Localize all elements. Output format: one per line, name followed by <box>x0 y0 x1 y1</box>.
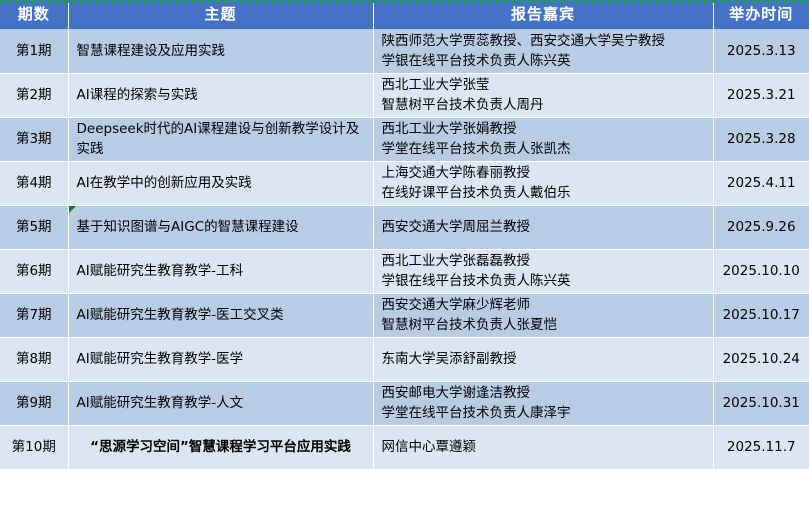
cell-line: AI课程的探索与实践 <box>77 85 365 105</box>
table-body: 第1期智慧课程建设及应用实践陕西师范大学贾蕊教授、西安交通大学吴宁教授学银在线平… <box>0 29 809 469</box>
cell-line: 在线好课平台技术负责人戴伯乐 <box>382 183 705 203</box>
schedule-table: 期数 主题 报告嘉宾 举办时间 第1期智慧课程建设及应用实践陕西师范大学贾蕊教授… <box>0 0 809 470</box>
spreadsheet-canvas: 期数 主题 报告嘉宾 举办时间 第1期智慧课程建设及应用实践陕西师范大学贾蕊教授… <box>0 0 809 509</box>
cell-line: 2025.11.7 <box>722 437 802 457</box>
cell-line: 学银在线平台技术负责人陈兴英 <box>382 271 705 291</box>
cell-guest[interactable]: 东南大学吴添舒副教授 <box>373 337 713 381</box>
cell-date[interactable]: 2025.3.13 <box>713 29 809 73</box>
table-row[interactable]: 第6期AI赋能研究生教育教学-工科西北工业大学张磊磊教授学银在线平台技术负责人陈… <box>0 249 809 293</box>
cell-line: 第5期 <box>4 217 64 237</box>
cell-line: 2025.10.17 <box>722 305 802 325</box>
cell-period[interactable]: 第5期 <box>0 205 68 249</box>
table-row[interactable]: 第1期智慧课程建设及应用实践陕西师范大学贾蕊教授、西安交通大学吴宁教授学银在线平… <box>0 29 809 73</box>
cell-topic[interactable]: AI赋能研究生教育教学-医学 <box>68 337 373 381</box>
cell-line: 2025.9.26 <box>722 217 802 237</box>
column-header-date[interactable]: 举办时间 <box>713 0 809 29</box>
selection-marching-ants-border <box>0 0 809 3</box>
header-row: 期数 主题 报告嘉宾 举办时间 <box>0 0 809 29</box>
cell-topic[interactable]: AI赋能研究生教育教学-人文 <box>68 381 373 425</box>
cell-line: 智慧树平台技术负责人张夏恺 <box>382 315 705 335</box>
cell-line: 第10期 <box>4 437 64 457</box>
cell-line: AI赋能研究生教育教学-人文 <box>77 393 365 413</box>
cell-line: 网信中心覃遵颖 <box>382 437 705 457</box>
cell-line: 学堂在线平台技术负责人康泽宇 <box>382 403 705 423</box>
cell-line: 2025.3.13 <box>722 41 802 61</box>
cell-line: 西北工业大学张莹 <box>382 75 705 95</box>
cell-line: 东南大学吴添舒副教授 <box>382 349 705 369</box>
cell-line: AI赋能研究生教育教学-医学 <box>77 349 365 369</box>
cell-line: 2025.3.28 <box>722 129 802 149</box>
cell-guest[interactable]: 网信中心覃遵颖 <box>373 425 713 469</box>
cell-period[interactable]: 第8期 <box>0 337 68 381</box>
cell-guest[interactable]: 西北工业大学张莹智慧树平台技术负责人周丹 <box>373 73 713 117</box>
cell-topic[interactable]: AI赋能研究生教育教学-医工交叉类 <box>68 293 373 337</box>
column-header-period[interactable]: 期数 <box>0 0 68 29</box>
table-row[interactable]: 第10期“思源学习空间”智慧课程学习平台应用实践网信中心覃遵颖2025.11.7 <box>0 425 809 469</box>
cell-period[interactable]: 第7期 <box>0 293 68 337</box>
cell-line: 西安交通大学周屈兰教授 <box>382 217 705 237</box>
cell-guest[interactable]: 西北工业大学张娟教授学堂在线平台技术负责人张凯杰 <box>373 117 713 161</box>
cell-topic[interactable]: AI在教学中的创新应用及实践 <box>68 161 373 205</box>
cell-line: 基于知识图谱与AIGC的智慧课程建设 <box>77 217 365 237</box>
table-row[interactable]: 第2期AI课程的探索与实践西北工业大学张莹智慧树平台技术负责人周丹2025.3.… <box>0 73 809 117</box>
table-row[interactable]: 第8期AI赋能研究生教育教学-医学东南大学吴添舒副教授2025.10.24 <box>0 337 809 381</box>
cell-topic[interactable]: AI课程的探索与实践 <box>68 73 373 117</box>
cell-line: 第3期 <box>4 129 64 149</box>
table-row[interactable]: 第4期AI在教学中的创新应用及实践上海交通大学陈春丽教授在线好课平台技术负责人戴… <box>0 161 809 205</box>
cell-guest[interactable]: 西安交通大学麻少辉老师智慧树平台技术负责人张夏恺 <box>373 293 713 337</box>
cell-line: 智慧课程建设及应用实践 <box>77 41 365 61</box>
cell-line: 第1期 <box>4 41 64 61</box>
cell-period[interactable]: 第9期 <box>0 381 68 425</box>
cell-date[interactable]: 2025.10.17 <box>713 293 809 337</box>
cell-line: 学堂在线平台技术负责人张凯杰 <box>382 139 705 159</box>
table-row[interactable]: 第3期Deepseek时代的AI课程建设与创新教学设计及实践西北工业大学张娟教授… <box>0 117 809 161</box>
cell-guest[interactable]: 上海交通大学陈春丽教授在线好课平台技术负责人戴伯乐 <box>373 161 713 205</box>
cell-line: 第7期 <box>4 305 64 325</box>
table-row[interactable]: 第5期基于知识图谱与AIGC的智慧课程建设西安交通大学周屈兰教授2025.9.2… <box>0 205 809 249</box>
cell-line: 上海交通大学陈春丽教授 <box>382 163 705 183</box>
cell-period[interactable]: 第2期 <box>0 73 68 117</box>
cell-guest[interactable]: 西安邮电大学谢逢洁教授学堂在线平台技术负责人康泽宇 <box>373 381 713 425</box>
cell-topic[interactable]: 基于知识图谱与AIGC的智慧课程建设 <box>68 205 373 249</box>
cell-line: 西北工业大学张娟教授 <box>382 119 705 139</box>
cell-line: 第2期 <box>4 85 64 105</box>
table-row[interactable]: 第7期AI赋能研究生教育教学-医工交叉类西安交通大学麻少辉老师智慧树平台技术负责… <box>0 293 809 337</box>
cell-line: 2025.10.24 <box>722 349 802 369</box>
cell-line: 第9期 <box>4 393 64 413</box>
cell-period[interactable]: 第1期 <box>0 29 68 73</box>
cell-period[interactable]: 第6期 <box>0 249 68 293</box>
cell-topic[interactable]: “思源学习空间”智慧课程学习平台应用实践 <box>68 425 373 469</box>
cell-line: 2025.10.31 <box>722 393 802 413</box>
cell-line: Deepseek时代的AI课程建设与创新教学设计及实践 <box>77 119 365 159</box>
cell-line: AI赋能研究生教育教学-工科 <box>77 261 365 281</box>
cell-line: 智慧树平台技术负责人周丹 <box>382 95 705 115</box>
cell-line: 陕西师范大学贾蕊教授、西安交通大学吴宁教授 <box>382 31 705 51</box>
cell-topic[interactable]: AI赋能研究生教育教学-工科 <box>68 249 373 293</box>
cell-line: AI在教学中的创新应用及实践 <box>77 173 365 193</box>
cell-guest[interactable]: 西安交通大学周屈兰教授 <box>373 205 713 249</box>
cell-line: 西北工业大学张磊磊教授 <box>382 251 705 271</box>
cell-line: 第6期 <box>4 261 64 281</box>
cell-line: 学银在线平台技术负责人陈兴英 <box>382 51 705 71</box>
cell-line: 2025.3.21 <box>722 85 802 105</box>
cell-period[interactable]: 第10期 <box>0 425 68 469</box>
column-header-topic[interactable]: 主题 <box>68 0 373 29</box>
cell-date[interactable]: 2025.11.7 <box>713 425 809 469</box>
cell-line: 第4期 <box>4 173 64 193</box>
cell-date[interactable]: 2025.9.26 <box>713 205 809 249</box>
cell-line: 2025.4.11 <box>722 173 802 193</box>
cell-line: 2025.10.10 <box>722 261 802 281</box>
cell-topic[interactable]: Deepseek时代的AI课程建设与创新教学设计及实践 <box>68 117 373 161</box>
cell-date[interactable]: 2025.10.10 <box>713 249 809 293</box>
cell-date[interactable]: 2025.10.24 <box>713 337 809 381</box>
cell-topic[interactable]: 智慧课程建设及应用实践 <box>68 29 373 73</box>
cell-line: 第8期 <box>4 349 64 369</box>
table-header: 期数 主题 报告嘉宾 举办时间 <box>0 0 809 29</box>
cell-date[interactable]: 2025.4.11 <box>713 161 809 205</box>
table-row[interactable]: 第9期AI赋能研究生教育教学-人文西安邮电大学谢逢洁教授学堂在线平台技术负责人康… <box>0 381 809 425</box>
cell-line: “思源学习空间”智慧课程学习平台应用实践 <box>77 437 365 457</box>
cell-date[interactable]: 2025.3.21 <box>713 73 809 117</box>
cell-line: 西安邮电大学谢逢洁教授 <box>382 383 705 403</box>
cell-guest[interactable]: 陕西师范大学贾蕊教授、西安交通大学吴宁教授学银在线平台技术负责人陈兴英 <box>373 29 713 73</box>
cell-guest[interactable]: 西北工业大学张磊磊教授学银在线平台技术负责人陈兴英 <box>373 249 713 293</box>
cell-period[interactable]: 第3期 <box>0 117 68 161</box>
cell-period[interactable]: 第4期 <box>0 161 68 205</box>
column-header-guest[interactable]: 报告嘉宾 <box>373 0 713 29</box>
cell-line: 西安交通大学麻少辉老师 <box>382 295 705 315</box>
cell-date[interactable]: 2025.3.28 <box>713 117 809 161</box>
cell-date[interactable]: 2025.10.31 <box>713 381 809 425</box>
cell-line: AI赋能研究生教育教学-医工交叉类 <box>77 305 365 325</box>
